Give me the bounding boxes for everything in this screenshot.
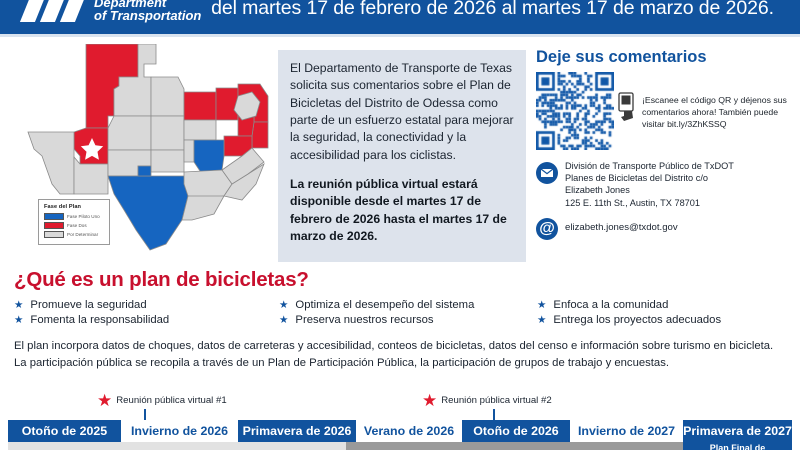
milestone-1: ★ Reunión pública virtual #1 — [97, 392, 227, 409]
page-header: Department of Transportation del martes … — [0, 0, 800, 37]
bullet-column-2: ★ Optimiza el desempeño del sistema ★ Pr… — [279, 299, 537, 326]
comments-title: Deje sus comentarios — [536, 48, 794, 67]
bullet-label: Fomenta la responsabilidad — [30, 314, 169, 326]
timeline-segment-otono-2025[interactable]: Otoño de 2025 — [8, 420, 121, 442]
bullet-label: Preserva nuestros recursos — [295, 314, 433, 326]
milestone-star-icon: ★ — [97, 392, 112, 409]
legend-item: Por Determinar — [44, 231, 104, 238]
legend-label: Fase Piloto Uno — [67, 214, 100, 219]
mail-contact-block: División de Transporte Público de TxDOT … — [536, 160, 794, 209]
bike-plan-heading: ¿Qué es un plan de bicicletas? — [14, 268, 309, 292]
qr-instruction-text: ¡Escanee el código QR y déjenos sus come… — [642, 72, 794, 131]
infographic-page: Department of Transportation del martes … — [0, 0, 800, 450]
at-sign-icon: @ — [536, 218, 558, 240]
txdot-logo-text: Department of Transportation — [94, 0, 201, 24]
phase-bar-dark — [346, 442, 683, 450]
email-contact-block[interactable]: @ elizabeth.jones@txdot.gov — [536, 216, 794, 240]
legend-title: Fase del Plan — [44, 204, 104, 210]
header-title: del martes 17 de febrero de 2026 al mart… — [195, 0, 790, 19]
star-bullet-icon: ★ — [279, 315, 288, 326]
timeline-bar: Otoño de 2025 Invierno de 2026 Primavera… — [8, 420, 792, 442]
phase-bar-final: Plan Final de — [683, 442, 792, 450]
bullet-item: ★ Entrega los proyectos adecuados — [537, 314, 787, 326]
timeline-segment-verano-2026[interactable]: Verano de 2026 — [356, 420, 462, 442]
milestone-2-connector — [493, 409, 495, 420]
timeline-segment-otono-2026[interactable]: Otoño de 2026 — [462, 420, 570, 442]
bullet-item: ★ Promueve la seguridad — [14, 299, 279, 311]
timeline-segment-invierno-2027[interactable]: Invierno de 2027 — [570, 420, 683, 442]
phase-bar-final-label: Plan Final de — [683, 443, 792, 450]
legend-swatch-por-determinar — [44, 231, 64, 238]
timeline-segment-primavera-2027[interactable]: Primavera de 2027 — [683, 420, 792, 442]
milestone-label: Reunión pública virtual #1 — [116, 395, 226, 406]
star-bullet-icon: ★ — [537, 315, 546, 326]
bullet-label: Optimiza el desempeño del sistema — [295, 299, 474, 311]
timeline-segment-primavera-2026[interactable]: Primavera de 2026 — [238, 420, 356, 442]
legend-label: Por Determinar — [67, 232, 98, 237]
mail-address: División de Transporte Público de TxDOT … — [565, 160, 734, 209]
meeting-dates-paragraph: La reunión pública virtual estará dispon… — [290, 176, 514, 245]
mail-line: Planes de Bicicletas del Distrito c/o — [565, 172, 734, 184]
bullet-column-3: ★ Enfoca a la comunidad ★ Entrega los pr… — [537, 299, 787, 326]
star-bullet-icon: ★ — [537, 300, 546, 311]
qr-row: ¡Escanee el código QR y déjenos sus come… — [536, 72, 794, 150]
bullet-item: ★ Enfoca a la comunidad — [537, 299, 787, 311]
bullet-item: ★ Preserva nuestros recursos — [279, 314, 537, 326]
legend-item: Fase Piloto Uno — [44, 213, 104, 220]
phase-bar-light — [8, 442, 346, 450]
bullet-item: ★ Fomenta la responsabilidad — [14, 314, 279, 326]
description-paragraph: El Departamento de Transporte de Texas s… — [290, 60, 514, 164]
timeline-phase-bar: Plan Final de — [8, 442, 792, 450]
bullet-column-1: ★ Promueve la seguridad ★ Fomenta la res… — [14, 299, 279, 326]
qr-code[interactable] — [536, 72, 614, 150]
mail-line: Elizabeth Jones — [565, 184, 734, 196]
logo-line-2: of Transportation — [94, 9, 201, 22]
legend-label: Fase Dos — [67, 223, 87, 228]
envelope-icon — [536, 162, 558, 184]
star-bullet-icon: ★ — [279, 300, 288, 311]
timeline-segment-invierno-2026[interactable]: Invierno de 2026 — [121, 420, 238, 442]
mail-line: División de Transporte Público de TxDOT — [565, 160, 734, 172]
txdot-slash-icon — [26, 0, 88, 24]
description-panel: El Departamento de Transporte de Texas s… — [278, 50, 526, 262]
comments-panel: Deje sus comentarios ¡Escanee el código … — [536, 48, 794, 262]
bike-plan-bullets: ★ Promueve la seguridad ★ Fomenta la res… — [14, 299, 789, 326]
milestone-1-connector — [144, 409, 146, 420]
star-bullet-icon: ★ — [14, 300, 23, 311]
bullet-label: Entrega los proyectos adecuados — [553, 314, 721, 326]
txdot-logo: Department of Transportation — [26, 0, 201, 24]
legend-swatch-fase-dos — [44, 222, 64, 229]
bullet-label: Promueve la seguridad — [30, 299, 146, 311]
phone-scan-icon — [618, 92, 638, 122]
milestone-star-icon: ★ — [422, 392, 437, 409]
mail-line: 125 E. 11th St., Austin, TX 78701 — [565, 197, 734, 209]
email-address[interactable]: elizabeth.jones@txdot.gov — [565, 222, 678, 233]
milestone-label: Reunión pública virtual #2 — [441, 395, 551, 406]
texas-district-map: Fase del Plan Fase Piloto Uno Fase Dos P… — [16, 44, 274, 262]
star-bullet-icon: ★ — [14, 315, 23, 326]
bullet-item: ★ Optimiza el desempeño del sistema — [279, 299, 537, 311]
timeline-milestones: ★ Reunión pública virtual #1 ★ Reunión p… — [0, 392, 800, 420]
milestone-2: ★ Reunión pública virtual #2 — [422, 392, 552, 409]
legend-item: Fase Dos — [44, 222, 104, 229]
bike-plan-paragraph: El plan incorpora datos de choques, dato… — [14, 338, 786, 371]
bullet-label: Enfoca a la comunidad — [553, 299, 668, 311]
map-legend: Fase del Plan Fase Piloto Uno Fase Dos P… — [38, 199, 110, 245]
legend-swatch-fase-piloto-uno — [44, 213, 64, 220]
